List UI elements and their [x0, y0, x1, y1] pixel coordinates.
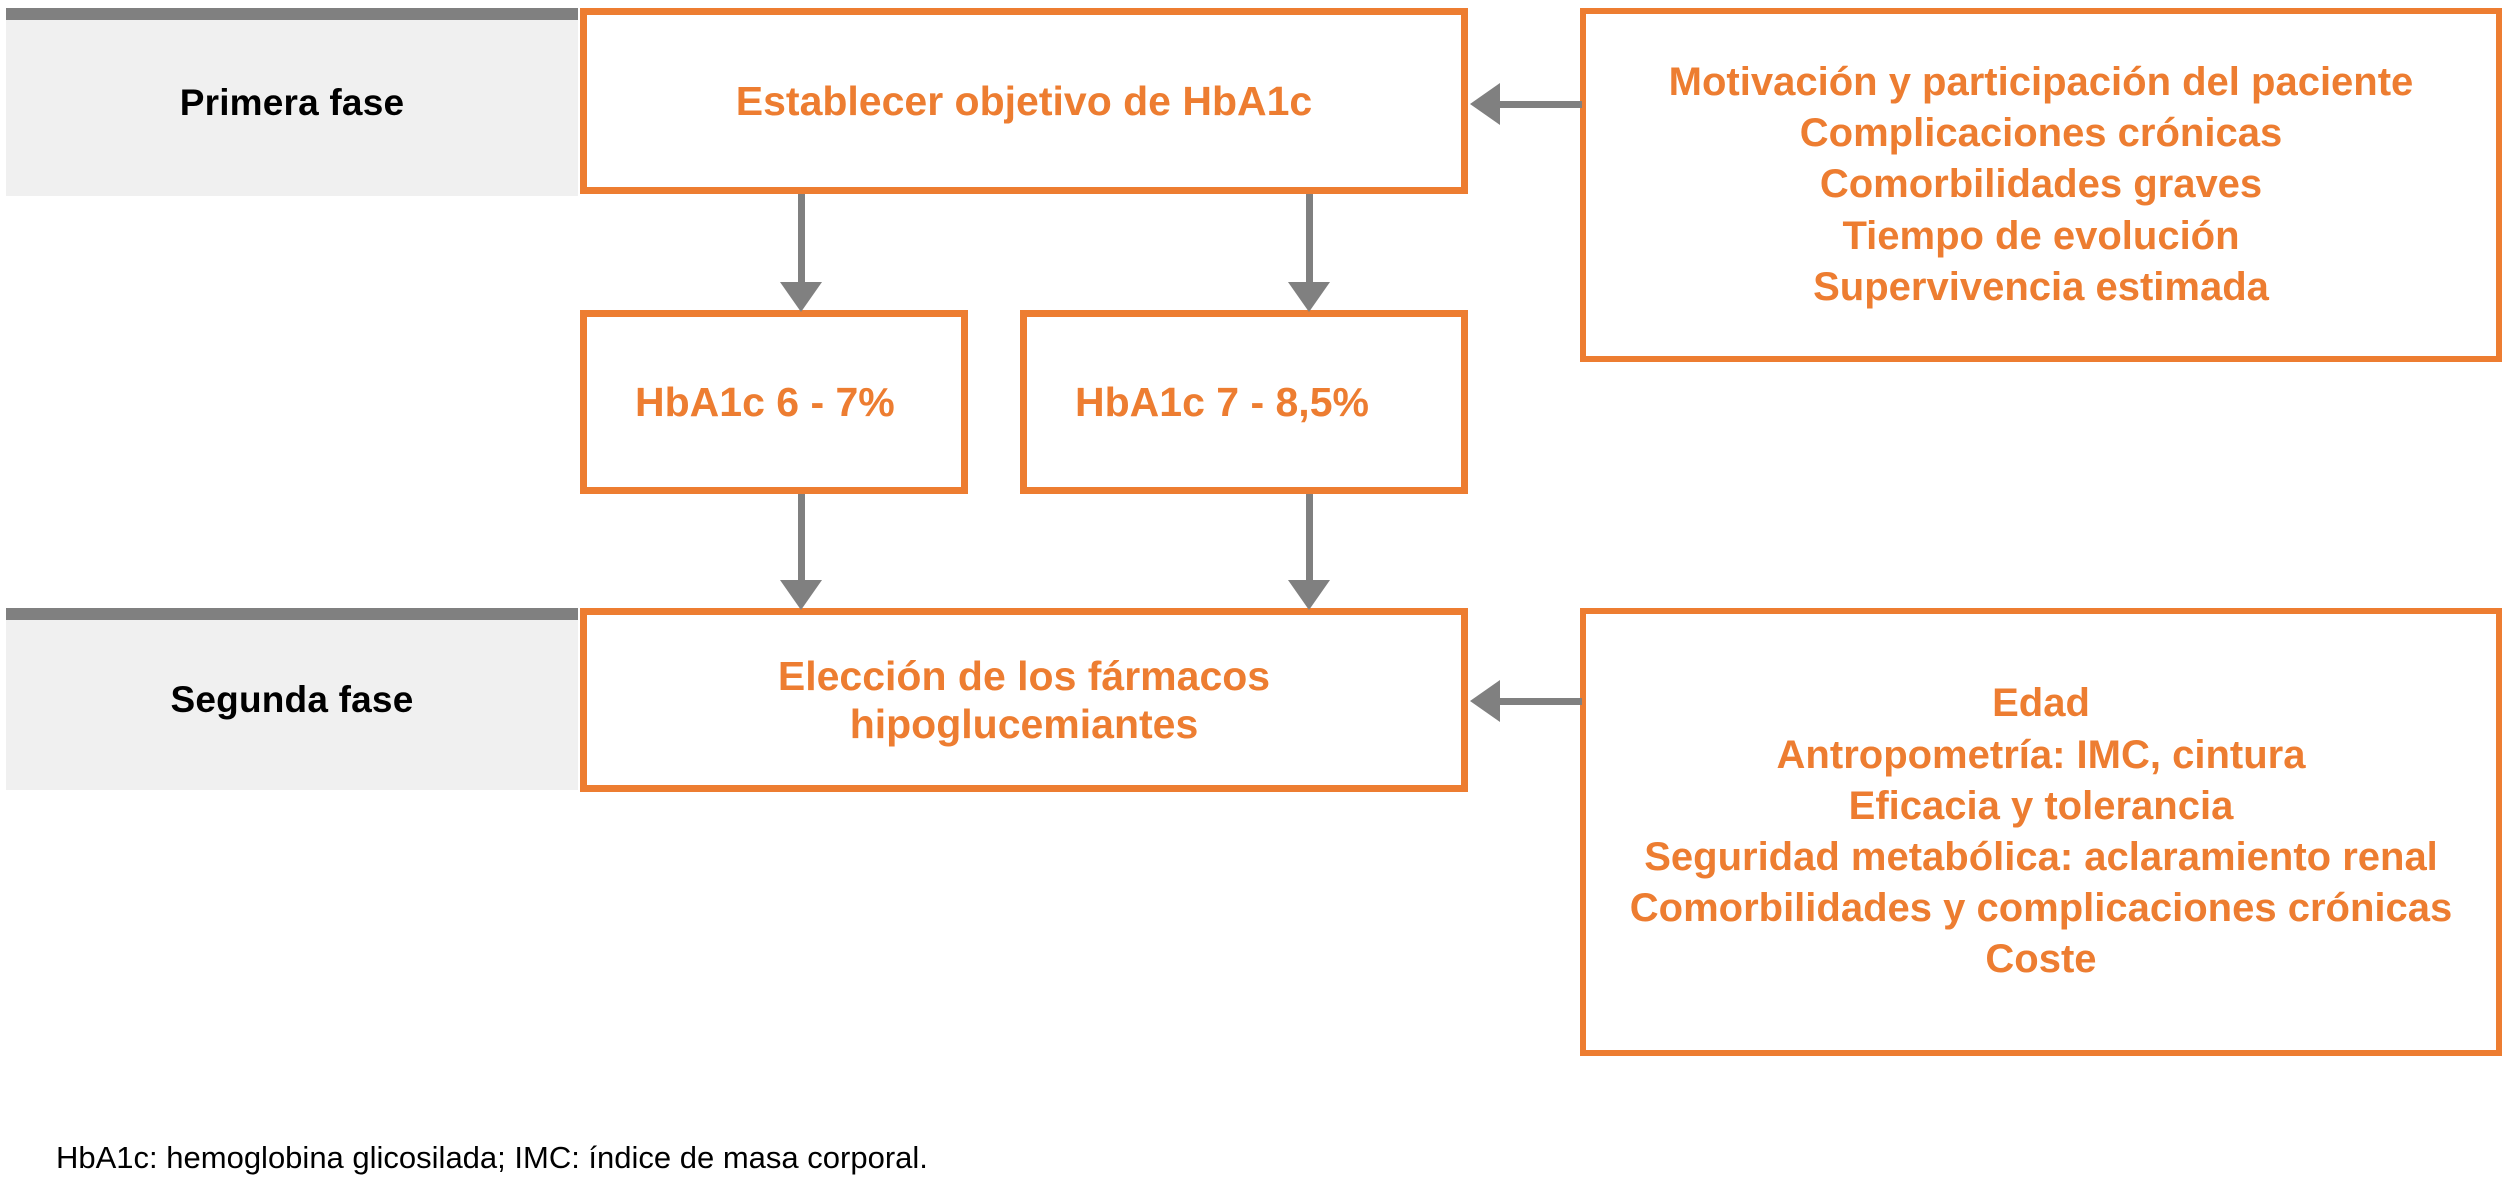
panel-factores-farmacos[interactable]: Edad Antropometría: IMC, cintura Eficaci…	[1580, 608, 2502, 1056]
arrowhead-hba1c-7-85-to-eleccion	[1288, 580, 1330, 610]
panel-objetivo-line-5: Supervivencia estimada	[1612, 262, 2470, 313]
box-hba1c-6-7-label: HbA1c 6 - 7%	[587, 378, 909, 426]
arrowhead-hba1c-6-7-to-eleccion	[780, 580, 822, 610]
connector-objetivo-to-hba1c-6-7	[798, 194, 805, 286]
box-hba1c-6-7[interactable]: HbA1c 6 - 7%	[580, 310, 968, 494]
footnote-abbreviations: HbA1c: hemoglobina glicosilada; IMC: índ…	[56, 1140, 928, 1176]
phase-label-segunda: Segunda fase	[6, 610, 578, 790]
panel-farmacos-line-5: Comorbilidades y complicaciones crónicas	[1612, 883, 2470, 934]
box-eleccion-farmacos[interactable]: Elección de los fármacos hipoglucemiante…	[580, 608, 1468, 792]
connector-hba1c-7-85-to-eleccion	[1306, 494, 1313, 584]
box-eleccion-farmacos-label: Elección de los fármacos hipoglucemiante…	[764, 652, 1284, 749]
panel-farmacos-line-3: Eficacia y tolerancia	[1612, 781, 2470, 832]
panel-objetivo-line-1: Motivación y participación del paciente	[1612, 57, 2470, 108]
panel-objetivo-line-3: Comorbilidades graves	[1612, 159, 2470, 210]
arrowhead-panel-farmacos-to-box	[1470, 680, 1500, 722]
panel-objetivo-line-4: Tiempo de evolución	[1612, 211, 2470, 262]
connector-objetivo-to-hba1c-7-85	[1306, 194, 1313, 286]
arrowhead-objetivo-to-hba1c-6-7	[780, 282, 822, 312]
connector-panel-objetivo-to-box	[1500, 101, 1582, 108]
arrowhead-objetivo-to-hba1c-7-85	[1288, 282, 1330, 312]
box-establecer-objetivo-label: Establecer objetivo de HbA1c	[722, 77, 1326, 125]
panel-farmacos-line-2: Antropometría: IMC, cintura	[1612, 730, 2470, 781]
phase-label-primera: Primera fase	[6, 10, 578, 196]
panel-farmacos-line-6: Coste	[1612, 934, 2470, 985]
arrowhead-panel-objetivo-to-box	[1470, 83, 1500, 125]
box-hba1c-7-85[interactable]: HbA1c 7 - 8,5%	[1020, 310, 1468, 494]
box-hba1c-7-85-label: HbA1c 7 - 8,5%	[1027, 378, 1383, 426]
panel-objetivo-line-2: Complicaciones crónicas	[1612, 108, 2470, 159]
box-eleccion-line-2: hipoglucemiantes	[850, 701, 1199, 747]
panel-farmacos-line-4: Seguridad metabólica: aclaramiento renal	[1612, 832, 2470, 883]
panel-factores-objetivo[interactable]: Motivación y participación del paciente …	[1580, 8, 2502, 362]
panel-farmacos-line-1: Edad	[1612, 678, 2470, 729]
connector-hba1c-6-7-to-eleccion	[798, 494, 805, 584]
box-establecer-objetivo[interactable]: Establecer objetivo de HbA1c	[580, 8, 1468, 194]
diagram-canvas: Primera fase Segunda fase Establecer obj…	[0, 0, 2508, 1198]
box-eleccion-line-1: Elección de los fármacos	[778, 653, 1270, 699]
connector-panel-farmacos-to-box	[1500, 698, 1582, 705]
